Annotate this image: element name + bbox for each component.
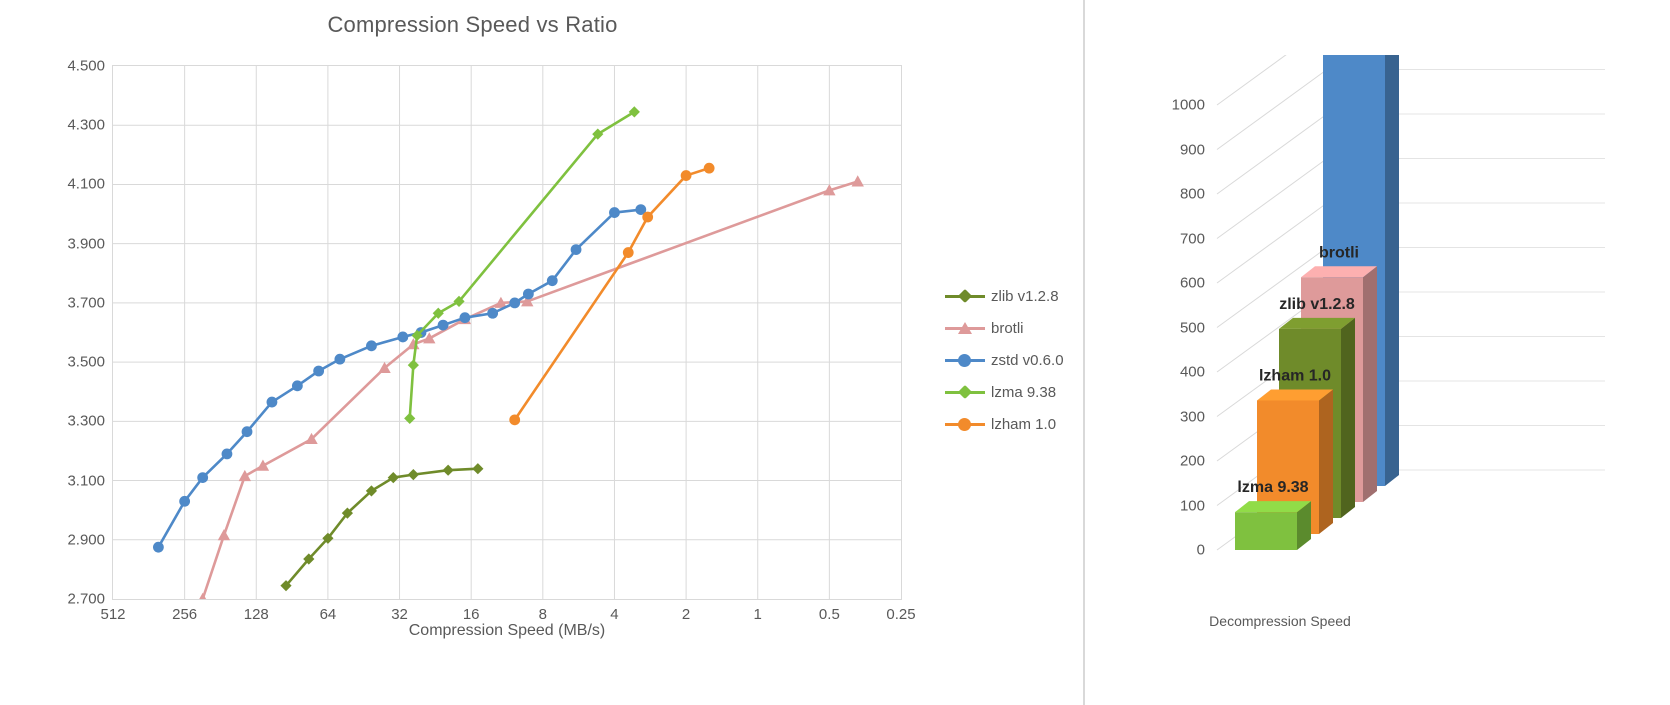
series-line (286, 469, 478, 586)
legend-item-zlib[interactable]: zlib v1.2.8 (945, 280, 1064, 312)
bar-side-face (1319, 390, 1333, 535)
legend-marker-icon (945, 385, 985, 399)
y-axis-tick: 2.700 (67, 591, 105, 608)
scatter-svg (113, 66, 901, 599)
x-axis-tick: 4 (610, 606, 618, 623)
bar-side-face (1341, 318, 1355, 518)
data-point (681, 170, 692, 181)
y-axis-tick: 3.300 (67, 413, 105, 430)
bar-data-label: zlib v1.2.8 (1279, 296, 1355, 313)
data-point (509, 297, 520, 308)
data-point (239, 470, 251, 481)
legend-marker-icon (945, 321, 985, 335)
legend-item-label: lzham 1.0 (991, 416, 1056, 433)
data-point (642, 212, 653, 223)
data-point (388, 472, 399, 483)
legend: zlib v1.2.8brotlizstd v0.6.0lzma 9.38lzh… (945, 280, 1064, 440)
data-point (704, 163, 715, 174)
bar-category-label: Decompression Speed (1190, 612, 1370, 631)
bar-gridline (1217, 114, 1327, 194)
legend-item-label: zlib v1.2.8 (991, 288, 1059, 305)
data-point (571, 244, 582, 255)
y-axis-tick: 3.900 (67, 235, 105, 252)
data-point (257, 460, 269, 471)
y-axis-tick: 3.700 (67, 294, 105, 311)
x-axis-tick: 1 (754, 606, 762, 623)
x-axis-title: Compression Speed (MB/s) (112, 622, 902, 640)
x-axis-tick: 0.5 (819, 606, 840, 623)
legend-item-zstd[interactable]: zstd v0.6.0 (945, 344, 1064, 376)
bar-y-axis-tick: 1000 (1172, 97, 1205, 114)
data-point (222, 449, 233, 460)
data-point (179, 496, 190, 507)
data-point (153, 542, 164, 553)
bar-data-label: brotli (1319, 244, 1359, 261)
y-axis-tick: 2.900 (67, 531, 105, 548)
data-point (197, 472, 208, 483)
chart-title: Compression Speed vs Ratio (0, 12, 945, 38)
bar-y-axis-tick: 500 (1180, 319, 1205, 336)
legend-item-label: zstd v0.6.0 (991, 352, 1064, 369)
bar-data-label: lzham 1.0 (1259, 368, 1331, 385)
legend-item-label: brotli (991, 320, 1024, 337)
data-point (313, 366, 324, 377)
data-point (547, 275, 558, 286)
series-line (410, 112, 635, 418)
y-axis-tick: 4.300 (67, 117, 105, 134)
data-point (366, 340, 377, 351)
bar-y-axis-tick: 400 (1180, 364, 1205, 381)
bar-y-axis-tick: 600 (1180, 275, 1205, 292)
data-point (523, 289, 534, 300)
bar-side-face (1385, 55, 1399, 486)
legend-item-label: lzma 9.38 (991, 384, 1056, 401)
bar-y-axis-tick: 200 (1180, 453, 1205, 470)
legend-marker-icon (945, 417, 985, 431)
data-point (852, 175, 864, 186)
chart-page: Compression Speed vs Ratio 4.5004.3004.1… (0, 0, 1670, 705)
bar-y-axis-tick: 100 (1180, 497, 1205, 514)
bar-gridline (1217, 70, 1327, 150)
legend-item-brotli[interactable]: brotli (945, 312, 1064, 344)
data-point (438, 320, 449, 331)
data-point (623, 247, 634, 258)
y-axis-tick: 3.100 (67, 472, 105, 489)
data-point (629, 106, 640, 117)
legend-marker-icon (945, 353, 985, 367)
data-point (443, 465, 454, 476)
data-point (292, 380, 303, 391)
bar-gridline (1217, 159, 1327, 239)
x-axis-tick: 64 (320, 606, 337, 623)
bar-y-axis-tick: 900 (1180, 141, 1205, 158)
x-axis-tick: 2 (682, 606, 690, 623)
y-axis-tick: 4.500 (67, 58, 105, 75)
legend-item-lzham[interactable]: lzham 1.0 (945, 408, 1064, 440)
data-point (397, 332, 408, 343)
data-point (472, 463, 483, 474)
legend-marker-icon (945, 289, 985, 303)
data-point (218, 529, 230, 540)
data-point (196, 593, 208, 599)
y-axis-tick: 4.100 (67, 176, 105, 193)
bar-chart-panel: zstd v0.6.0brotlizlib v1.2.8lzham 1.0lzm… (1085, 0, 1670, 705)
x-axis-tick: 0.25 (886, 606, 915, 623)
bar-data-label: lzma 9.38 (1237, 479, 1308, 496)
bar-y-axis-tick: 800 (1180, 186, 1205, 203)
bar-lzma[interactable]: lzma 9.38 (1235, 479, 1311, 550)
x-axis-tick: 32 (391, 606, 408, 623)
data-point (509, 414, 520, 425)
bar-y-axis-tick: 700 (1180, 230, 1205, 247)
bar-front-face (1235, 512, 1297, 550)
x-axis-tick: 128 (244, 606, 269, 623)
bar-plot-area: zstd v0.6.0brotlizlib v1.2.8lzham 1.0lzm… (1195, 55, 1615, 600)
data-point (487, 308, 498, 319)
x-axis-tick: 256 (172, 606, 197, 623)
data-point (460, 312, 471, 323)
y-axis-tick: 3.500 (67, 354, 105, 371)
bar-y-axis-tick: 0 (1197, 542, 1205, 559)
data-point (242, 426, 253, 437)
data-point (267, 397, 278, 408)
data-point (408, 359, 419, 370)
scatter-plot-area: 4.5004.3004.1003.9003.7003.5003.3003.100… (112, 65, 902, 600)
x-axis-tick: 512 (100, 606, 125, 623)
data-point (408, 469, 419, 480)
bar-gridline (1217, 55, 1327, 105)
x-axis-tick: 8 (539, 606, 547, 623)
x-axis-tick: 16 (463, 606, 480, 623)
data-point (609, 207, 620, 218)
bar-svg: zstd v0.6.0brotlizlib v1.2.8lzham 1.0lzm… (1195, 55, 1615, 600)
legend-item-lzma[interactable]: lzma 9.38 (945, 376, 1064, 408)
data-point (404, 413, 415, 424)
scatter-chart-panel: Compression Speed vs Ratio 4.5004.3004.1… (0, 0, 1083, 705)
bar-y-axis-tick: 300 (1180, 408, 1205, 425)
data-point (334, 354, 345, 365)
bar-side-face (1363, 266, 1377, 502)
